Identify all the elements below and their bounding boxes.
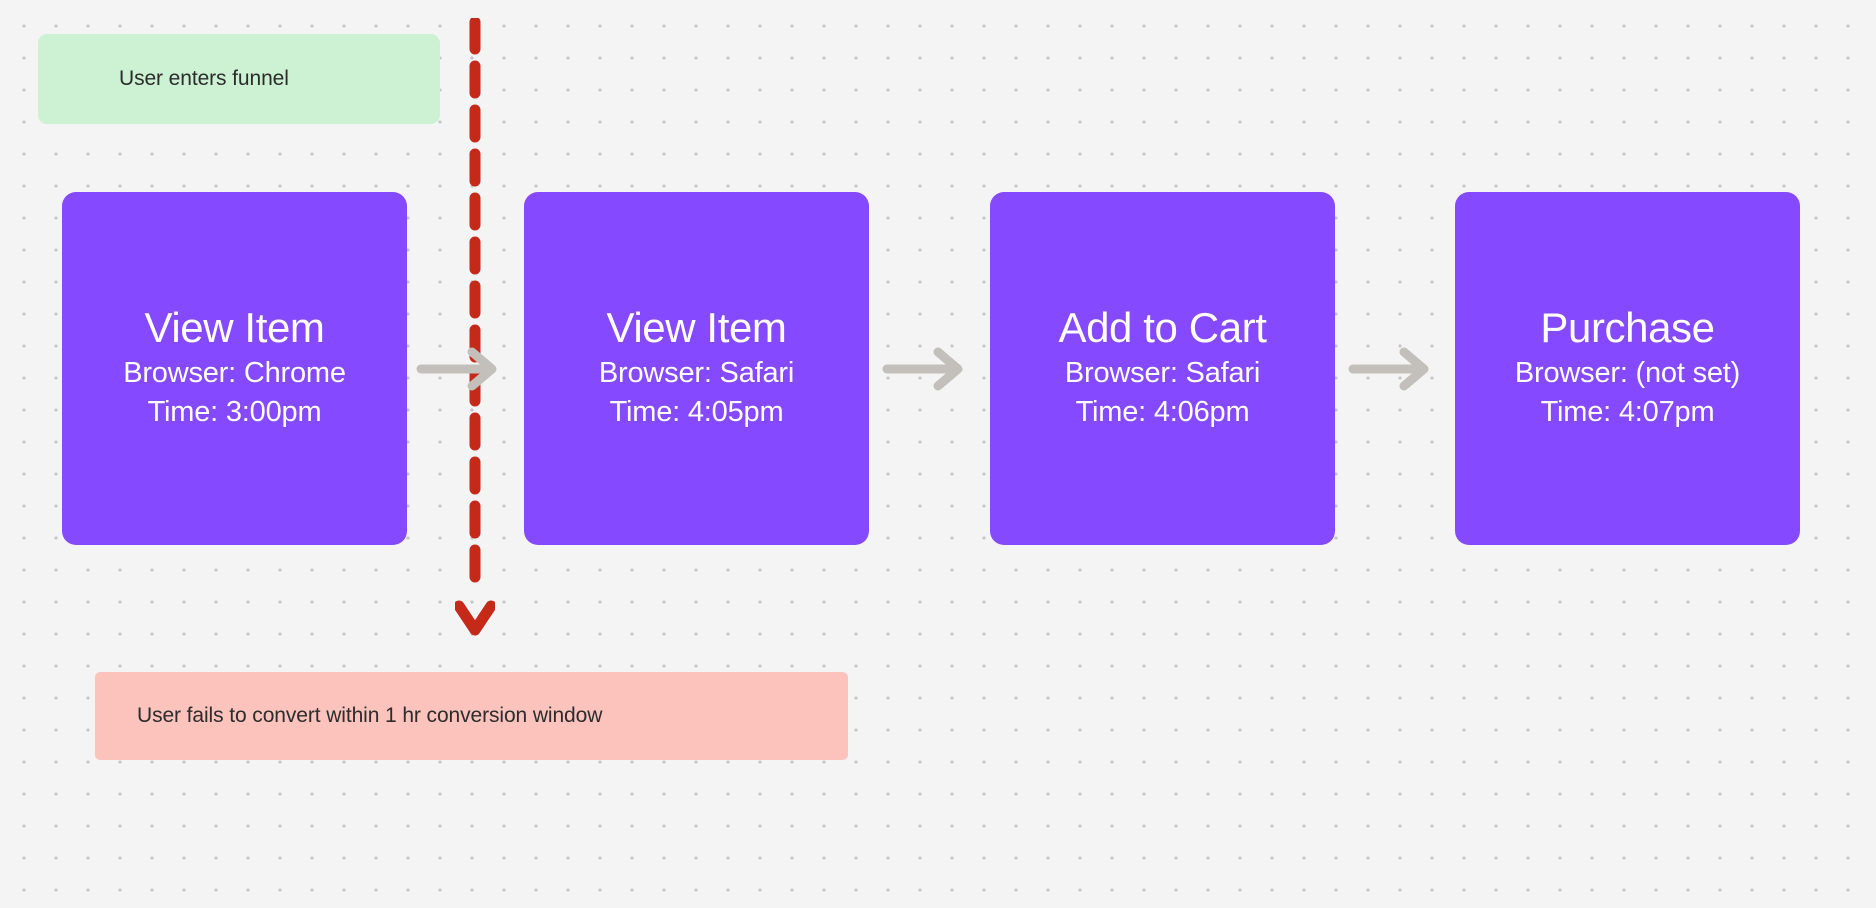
event-node-add-to-cart[interactable]: Add to Cart Browser: Safari Time: 4:06pm [990, 192, 1335, 545]
event-node-view-item-chrome[interactable]: View Item Browser: Chrome Time: 3:00pm [62, 192, 407, 545]
annotation-entry-label: User enters funnel [119, 66, 289, 91]
event-node-browser: Browser: Safari [599, 354, 794, 393]
event-node-title: View Item [606, 305, 786, 350]
arrow-right-icon [882, 347, 968, 391]
annotation-failure-label: User fails to convert within 1 hr conver… [137, 703, 602, 728]
drop-line-svg [455, 18, 495, 663]
event-node-title: Add to Cart [1058, 305, 1266, 350]
arrowhead-down-icon [459, 606, 491, 630]
arrow-right-icon [1348, 347, 1434, 391]
event-node-browser: Browser: (not set) [1515, 354, 1740, 393]
annotation-user-enters-funnel: User enters funnel [38, 34, 440, 124]
conversion-window-drop-line [455, 18, 495, 663]
diagram-canvas: User enters funnel View Item Browser: Ch… [0, 0, 1876, 908]
event-node-title: Purchase [1540, 305, 1714, 350]
event-node-browser: Browser: Safari [1065, 354, 1260, 393]
event-node-view-item-safari[interactable]: View Item Browser: Safari Time: 4:05pm [524, 192, 869, 545]
event-node-purchase[interactable]: Purchase Browser: (not set) Time: 4:07pm [1455, 192, 1800, 545]
event-node-title: View Item [144, 305, 324, 350]
event-node-time: Time: 4:06pm [1076, 393, 1250, 432]
connector-arrow-1 [416, 347, 502, 391]
event-node-time: Time: 4:05pm [610, 393, 784, 432]
event-node-time: Time: 3:00pm [148, 393, 322, 432]
connector-arrow-2 [882, 347, 968, 391]
arrow-right-icon [416, 347, 502, 391]
event-node-browser: Browser: Chrome [123, 354, 346, 393]
annotation-conversion-failure: User fails to convert within 1 hr conver… [95, 672, 848, 760]
connector-arrow-3 [1348, 347, 1434, 391]
event-node-time: Time: 4:07pm [1541, 393, 1715, 432]
